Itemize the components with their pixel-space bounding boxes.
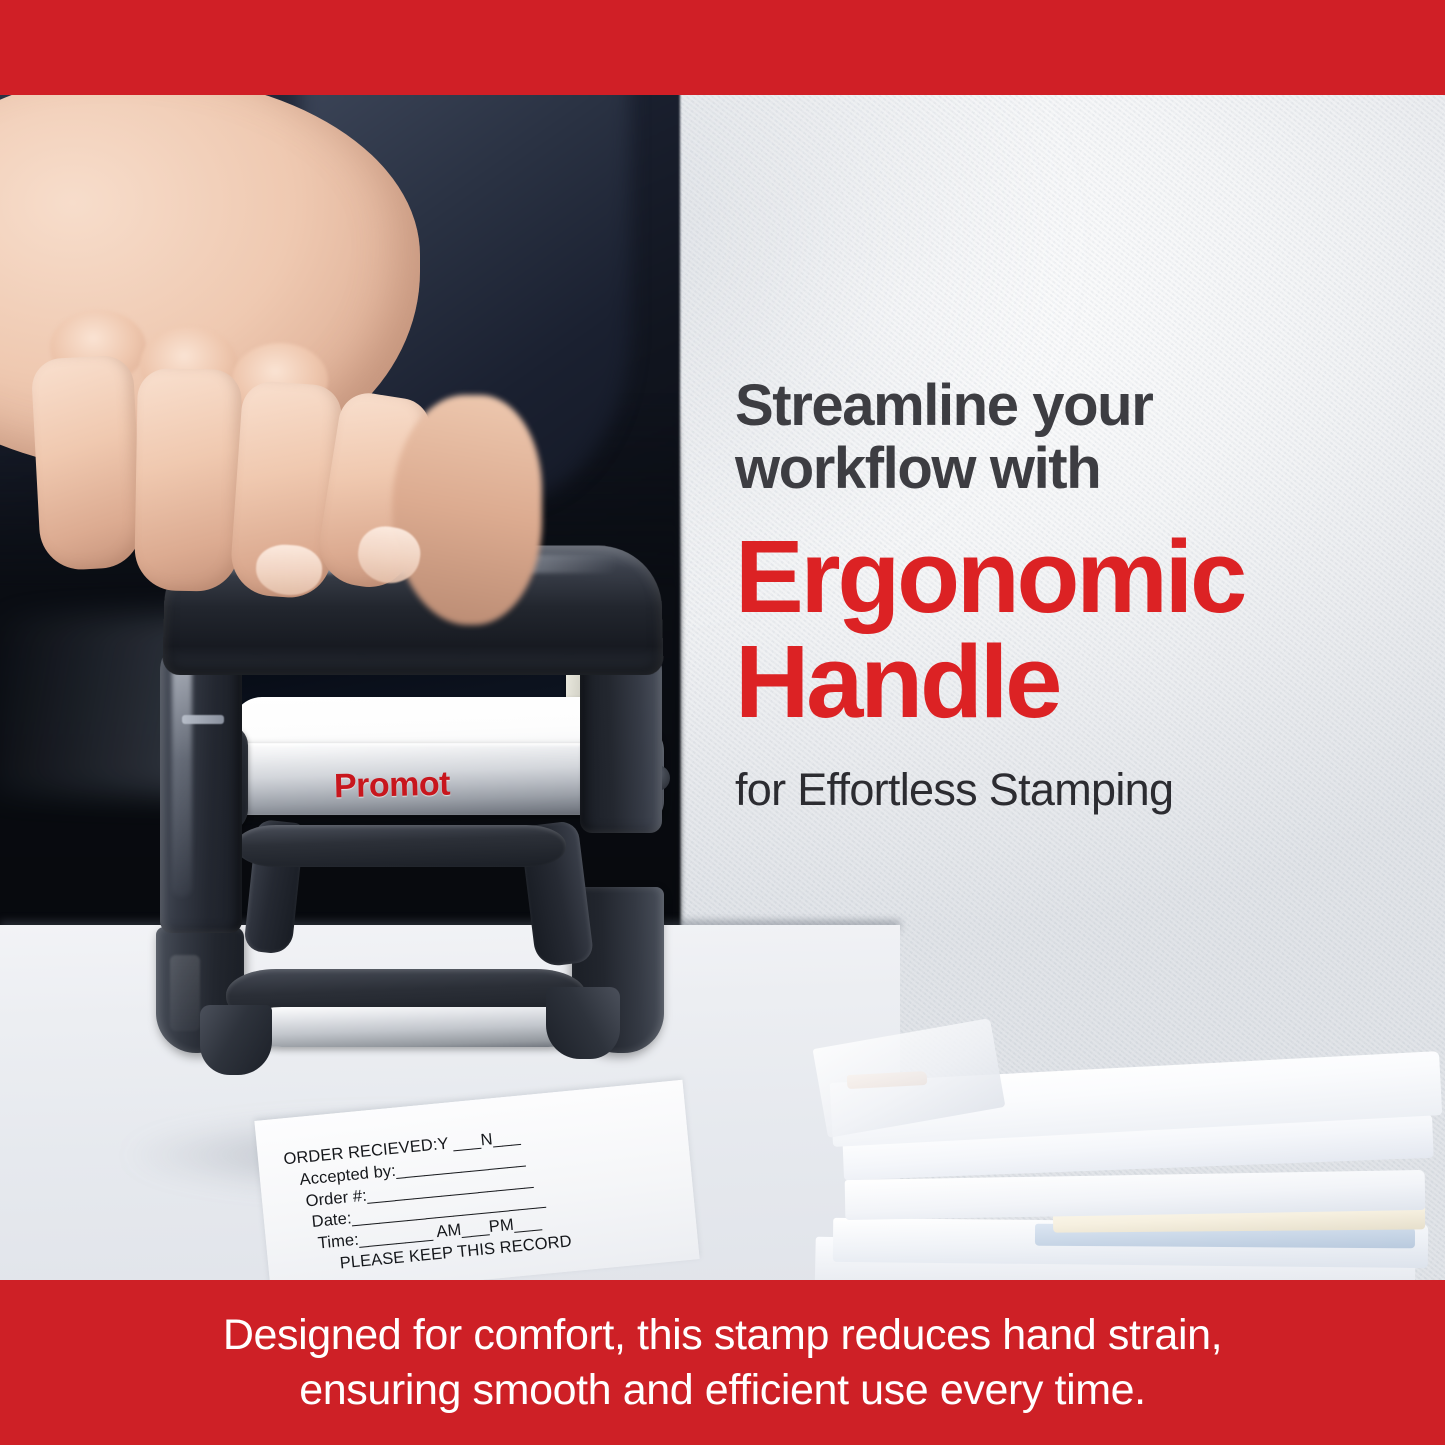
footer-line-1: Designed for comfort, this stamp reduces…: [223, 1308, 1222, 1362]
stamp-crossbar: [236, 825, 566, 867]
stamp-leg-gloss: [172, 647, 192, 897]
stamp-base-chrome-strip: [240, 1007, 590, 1047]
brand-logo: Promot: [334, 765, 451, 807]
stamp-leg-nub: [182, 715, 224, 724]
footer-line-2: ensuring smooth and efficient use every …: [299, 1363, 1145, 1417]
top-red-banner: [0, 0, 1445, 95]
bottom-red-banner: Designed for comfort, this stamp reduces…: [0, 1280, 1445, 1445]
stamp-foot-right: [546, 987, 620, 1059]
emphasis-line-1: Ergonomic: [735, 519, 1244, 634]
subtitle: for Effortless Stamping: [735, 764, 1395, 816]
emphasis-line-2: Handle: [735, 629, 1395, 734]
self-inking-stamp: Promot: [128, 535, 688, 1155]
finger: [31, 354, 144, 571]
stamp-embossed-mark: [170, 955, 200, 1031]
emphasis-headline: Ergonomic Handle: [735, 524, 1395, 734]
stamp-foot-left: [200, 1005, 272, 1075]
marketing-copy: Streamline your workflow with Ergonomic …: [735, 375, 1395, 816]
finger: [134, 368, 242, 592]
headline-line-1: Streamline your: [735, 375, 1395, 438]
headline-line-2: workflow with: [735, 438, 1395, 501]
paper-stack: [785, 1025, 1445, 1280]
hand-gripping-stamp: [0, 95, 580, 615]
thumb: [392, 395, 542, 625]
product-photo-stage: ORDER RECIEVED:Y ___N___ Accepted by:___…: [0, 95, 1445, 1280]
